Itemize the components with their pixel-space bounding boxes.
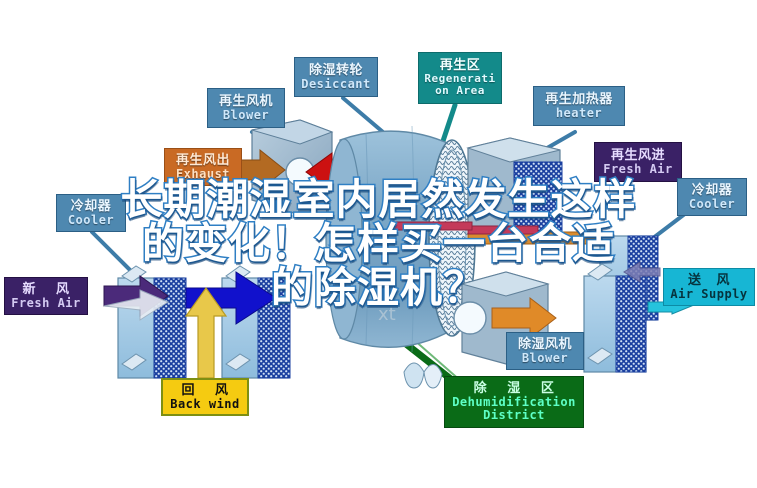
label-regen-fresh-air[interactable]: 再生风进 Fresh Air [594,142,682,182]
label-regen-fresh-air-en: Fresh Air [603,163,673,176]
diagram-canvas: xt 除湿转轮 Desiccant 再生风机 Blower 再生区 Regene… [0,0,757,488]
label-dehumidification-district-cn: 除 湿 区 [474,382,555,396]
label-air-supply[interactable]: 送 风 Air Supply [663,268,755,306]
label-regeneration-area-en-2: on Area [435,85,485,97]
label-exhaust[interactable]: 再生风出 Exhaust [164,148,242,186]
label-air-supply-en: Air Supply [670,288,747,301]
label-regeneration-area[interactable]: 再生区 Regenerati on Area [418,52,502,104]
label-cooler-left-en: Cooler [68,214,114,227]
label-back-wind-cn: 回 风 [181,384,228,398]
label-cooler-left[interactable]: 冷却器 Cooler [56,194,126,232]
label-desiccant-en: Desiccant [301,78,371,91]
label-back-wind[interactable]: 回 风 Back wind [161,378,249,416]
watermark-text: xt [378,304,396,325]
label-back-wind-en: Back wind [170,398,240,411]
label-regen-blower-cn: 再生风机 [219,95,273,109]
label-dehumidification-district-en-2: District [483,409,545,422]
label-dehum-blower-cn: 除湿风机 [518,338,572,352]
label-cooler-right[interactable]: 冷却器 Cooler [677,178,747,216]
label-regen-blower-en: Blower [223,109,269,122]
label-desiccant-cn: 除湿转轮 [309,64,363,78]
label-exhaust-en: Exhaust [176,168,230,181]
cooler-coil-left [118,266,186,378]
desiccant-rotor [326,126,475,388]
label-desiccant[interactable]: 除湿转轮 Desiccant [294,57,378,97]
label-dehumidification-district[interactable]: 除 湿 区 Dehumidification District [444,376,584,428]
label-regen-fresh-air-cn: 再生风进 [611,149,665,163]
dehumidifier-schematic-artwork: xt [0,0,757,488]
label-air-supply-cn: 送 风 [688,274,730,288]
cooler-coil-left-2 [222,266,290,378]
label-dehum-blower-en: Blower [522,352,568,365]
label-cooler-right-en: Cooler [689,198,735,211]
label-regen-heater-en: heater [556,107,602,120]
label-regeneration-area-cn: 再生区 [440,59,481,73]
label-fresh-air[interactable]: 新 风 Fresh Air [4,277,88,315]
label-regen-blower[interactable]: 再生风机 Blower [207,88,285,128]
label-cooler-right-cn: 冷却器 [692,184,733,198]
label-regen-heater-cn: 再生加热器 [545,93,613,107]
label-regen-heater[interactable]: 再生加热器 heater [533,86,625,126]
label-exhaust-cn: 再生风出 [176,154,230,168]
label-dehum-blower[interactable]: 除湿风机 Blower [506,332,584,370]
label-fresh-air-en: Fresh Air [11,297,81,310]
label-fresh-air-cn: 新 风 [22,283,69,297]
label-cooler-left-cn: 冷却器 [71,200,112,214]
